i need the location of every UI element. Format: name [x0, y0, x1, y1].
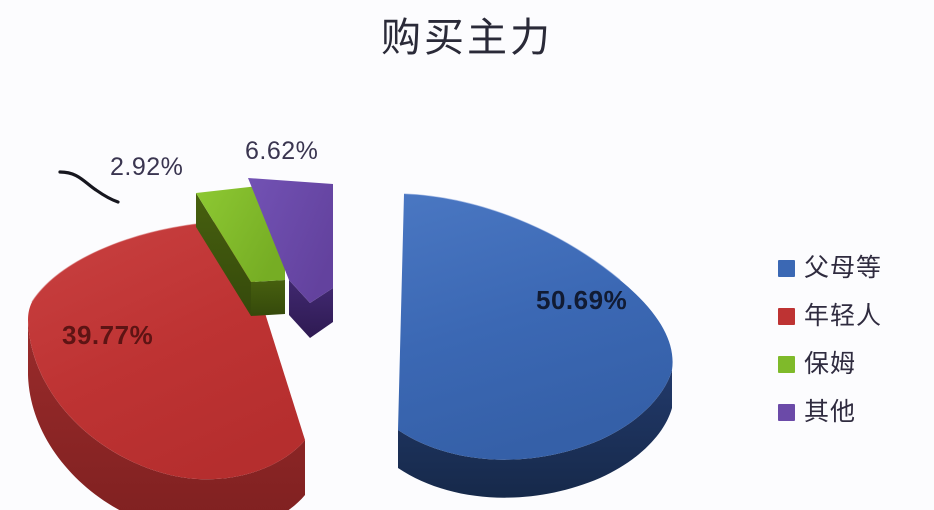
legend-item-other[interactable]: 其他 [778, 388, 928, 436]
data-label-red: 39.77% [62, 320, 153, 351]
pie-slice-blue[interactable] [398, 194, 673, 498]
data-label-green: 2.92% [110, 153, 183, 182]
pie-slice-blue-top [398, 194, 673, 460]
legend-swatch-purple-icon [778, 404, 795, 421]
data-label-purple: 6.62% [245, 137, 318, 166]
chart-legend: 父母等 年轻人 保姆 其他 [778, 244, 928, 436]
data-label-blue: 50.69% [536, 285, 627, 316]
legend-label-nanny: 保姆 [804, 352, 856, 377]
legend-item-youth[interactable]: 年轻人 [778, 292, 928, 340]
legend-label-other: 其他 [804, 400, 856, 425]
legend-item-parents[interactable]: 父母等 [778, 244, 928, 292]
legend-swatch-green-icon [778, 356, 795, 373]
legend-swatch-blue-icon [778, 260, 795, 277]
legend-label-parents: 父母等 [804, 256, 882, 281]
chart-page: 购买主力 [0, 0, 934, 510]
legend-item-nanny[interactable]: 保姆 [778, 340, 928, 388]
legend-swatch-red-icon [778, 308, 795, 325]
pie-slice-green-side-front [251, 280, 285, 316]
legend-label-youth: 年轻人 [804, 304, 882, 329]
page-title: 购买主力 [0, 8, 934, 68]
